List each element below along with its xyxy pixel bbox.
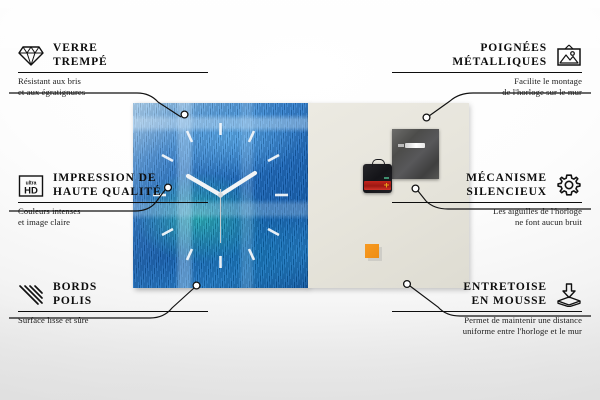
- feature-header: ENTRETOISE EN MOUSSE: [392, 281, 582, 308]
- feature-header: POIGNÉES MÉTALLIQUES: [392, 42, 582, 69]
- feature-metal-handles: POIGNÉES MÉTALLIQUES Facilite le montage…: [392, 42, 582, 97]
- feature-title: VERRE TREMPÉ: [53, 42, 108, 69]
- feature-high-quality-print: ultra HD IMPRESSION DE HAUTE QUALITÉ Cou…: [18, 172, 208, 227]
- feature-divider: [392, 311, 582, 312]
- feature-divider: [392, 202, 582, 203]
- feature-subtitle: Résistant aux bris et aux égratignures: [18, 76, 208, 97]
- clock-center-cap: [218, 192, 223, 197]
- gear-icon: [556, 173, 582, 199]
- feature-header: BORDS POLIS: [18, 281, 208, 308]
- foam-spacer-pad: [365, 244, 379, 258]
- feature-divider: [392, 72, 582, 73]
- feature-divider: [18, 202, 208, 203]
- feature-header: ultra HD IMPRESSION DE HAUTE QUALITÉ: [18, 172, 208, 199]
- feature-subtitle: Facilite le montage de l'horloge sur le …: [392, 76, 582, 97]
- feature-header: MÉCANISME SILENCIEUX: [392, 172, 582, 199]
- feature-silent-mechanism: MÉCANISME SILENCIEUX Les aiguilles de l'…: [392, 172, 582, 227]
- feature-title: BORDS POLIS: [53, 281, 97, 308]
- feature-tempered-glass: VERRE TREMPÉ Résistant aux bris et aux é…: [18, 42, 208, 97]
- clock-minute-hand: [221, 173, 256, 195]
- feature-title: MÉCANISME SILENCIEUX: [466, 172, 547, 199]
- mechanism-hook: [372, 159, 385, 167]
- feature-title: POIGNÉES MÉTALLIQUES: [452, 42, 547, 69]
- feature-title: IMPRESSION DE HAUTE QUALITÉ: [53, 172, 162, 199]
- feature-subtitle: Couleurs intenses et image claire: [18, 206, 208, 227]
- feature-foam-spacer: ENTRETOISE EN MOUSSE Permet de maintenir…: [392, 281, 582, 336]
- feature-polished-edges: BORDS POLIS Surface lisse et sûre: [18, 281, 208, 326]
- hanger-slot: [405, 143, 425, 148]
- product-feature-infographic: VERRE TREMPÉ Résistant aux bris et aux é…: [0, 0, 600, 400]
- mechanism-battery: [364, 181, 391, 190]
- feature-divider: [18, 311, 208, 312]
- diamond-icon: [18, 43, 44, 69]
- feature-subtitle: Surface lisse et sûre: [18, 315, 208, 326]
- arrow-down-onto-layer-icon: [556, 282, 582, 308]
- feature-title: ENTRETOISE EN MOUSSE: [463, 281, 547, 308]
- feature-subtitle: Permet de maintenir une distance uniform…: [392, 315, 582, 336]
- feature-header: VERRE TREMPÉ: [18, 42, 208, 69]
- ultra-hd-icon: ultra HD: [18, 173, 44, 199]
- diagonal-stripes-icon: [18, 282, 44, 308]
- clock-mechanism: [363, 164, 392, 193]
- framed-picture-icon: [556, 43, 582, 69]
- mechanism-indicator: [384, 177, 389, 179]
- feature-subtitle: Les aiguilles de l'horloge ne font aucun…: [392, 206, 582, 227]
- svg-text:HD: HD: [24, 185, 38, 196]
- feature-divider: [18, 72, 208, 73]
